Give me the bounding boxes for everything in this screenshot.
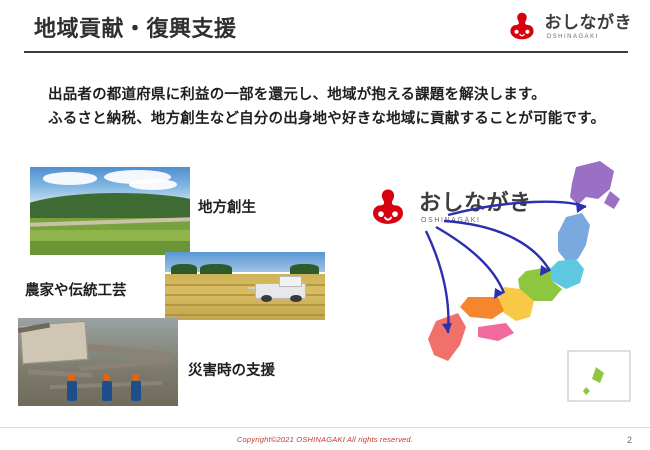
harvester-machine [248,275,318,302]
map-region-chugoku [460,297,504,319]
rescue-worker [66,374,77,400]
harvester-cabin [279,276,302,287]
harvester-wheel [290,295,301,302]
map-region-tohoku [558,213,590,261]
lead-line-1: 出品者の都道府県に利益の一部を還元し、地域が抱える課題を解決します。 [48,84,628,108]
map-region-kyushu [428,313,466,361]
brand-name: おしながき [545,14,633,31]
collapsed-house [20,321,89,364]
photo-label-disaster-support: 災害時の支援 [188,359,275,380]
copyright-text: Copyright©2021 OSHINAGAKI All rights res… [0,435,650,444]
header-divider [24,51,628,53]
photo-label-regional-revitalization: 地方創生 [198,196,256,217]
slide-header: 地域貢献・復興支援 おしながき OSHINAGAKI [0,0,650,52]
cloud-shape [43,172,97,184]
footer-divider [0,427,650,428]
disaster-debris-photo [18,318,178,406]
map-region-shikoku [478,323,514,341]
lead-paragraph: 出品者の都道府県に利益の一部を還元し、地域が抱える課題を解決します。 ふるさと納… [48,84,628,132]
rescue-worker [101,374,112,400]
brand-sub-name: OSHINAGAKI [547,34,599,40]
map-region-hokkaido [570,161,620,209]
lead-line-2: ふるさと納税、地方創生など自分の出身地や好きな地域に貢献することが可能です。 [48,108,628,132]
crop-row-line [165,304,325,306]
broken-roof [18,323,50,334]
worker-uniform [102,381,112,401]
rice-terrace-photo [30,167,190,255]
worker-uniform [67,381,77,401]
cloud-shape [129,179,177,190]
harvester-wheel [261,295,272,302]
crop-row-line [165,314,325,316]
header-brand-text: おしながき OSHINAGAKI [545,14,633,40]
combine-harvester-photo [165,252,325,320]
rescue-worker [130,374,141,400]
slide: 地域貢献・復興支援 おしながき OSHINAGAKI 出品者の都道府県に利益の一… [0,0,650,450]
japan-map-icon [400,155,640,410]
oshinagaki-logo-icon [505,10,539,44]
page-title: 地域貢献・復興支援 [34,11,237,43]
map-region-okinawa [568,351,630,401]
photo-label-farmers-crafts: 農家や伝統工芸 [25,279,127,300]
header-brand-logo: おしながき OSHINAGAKI [505,8,633,46]
page-number: 2 [627,435,632,445]
worker-uniform [131,381,141,401]
